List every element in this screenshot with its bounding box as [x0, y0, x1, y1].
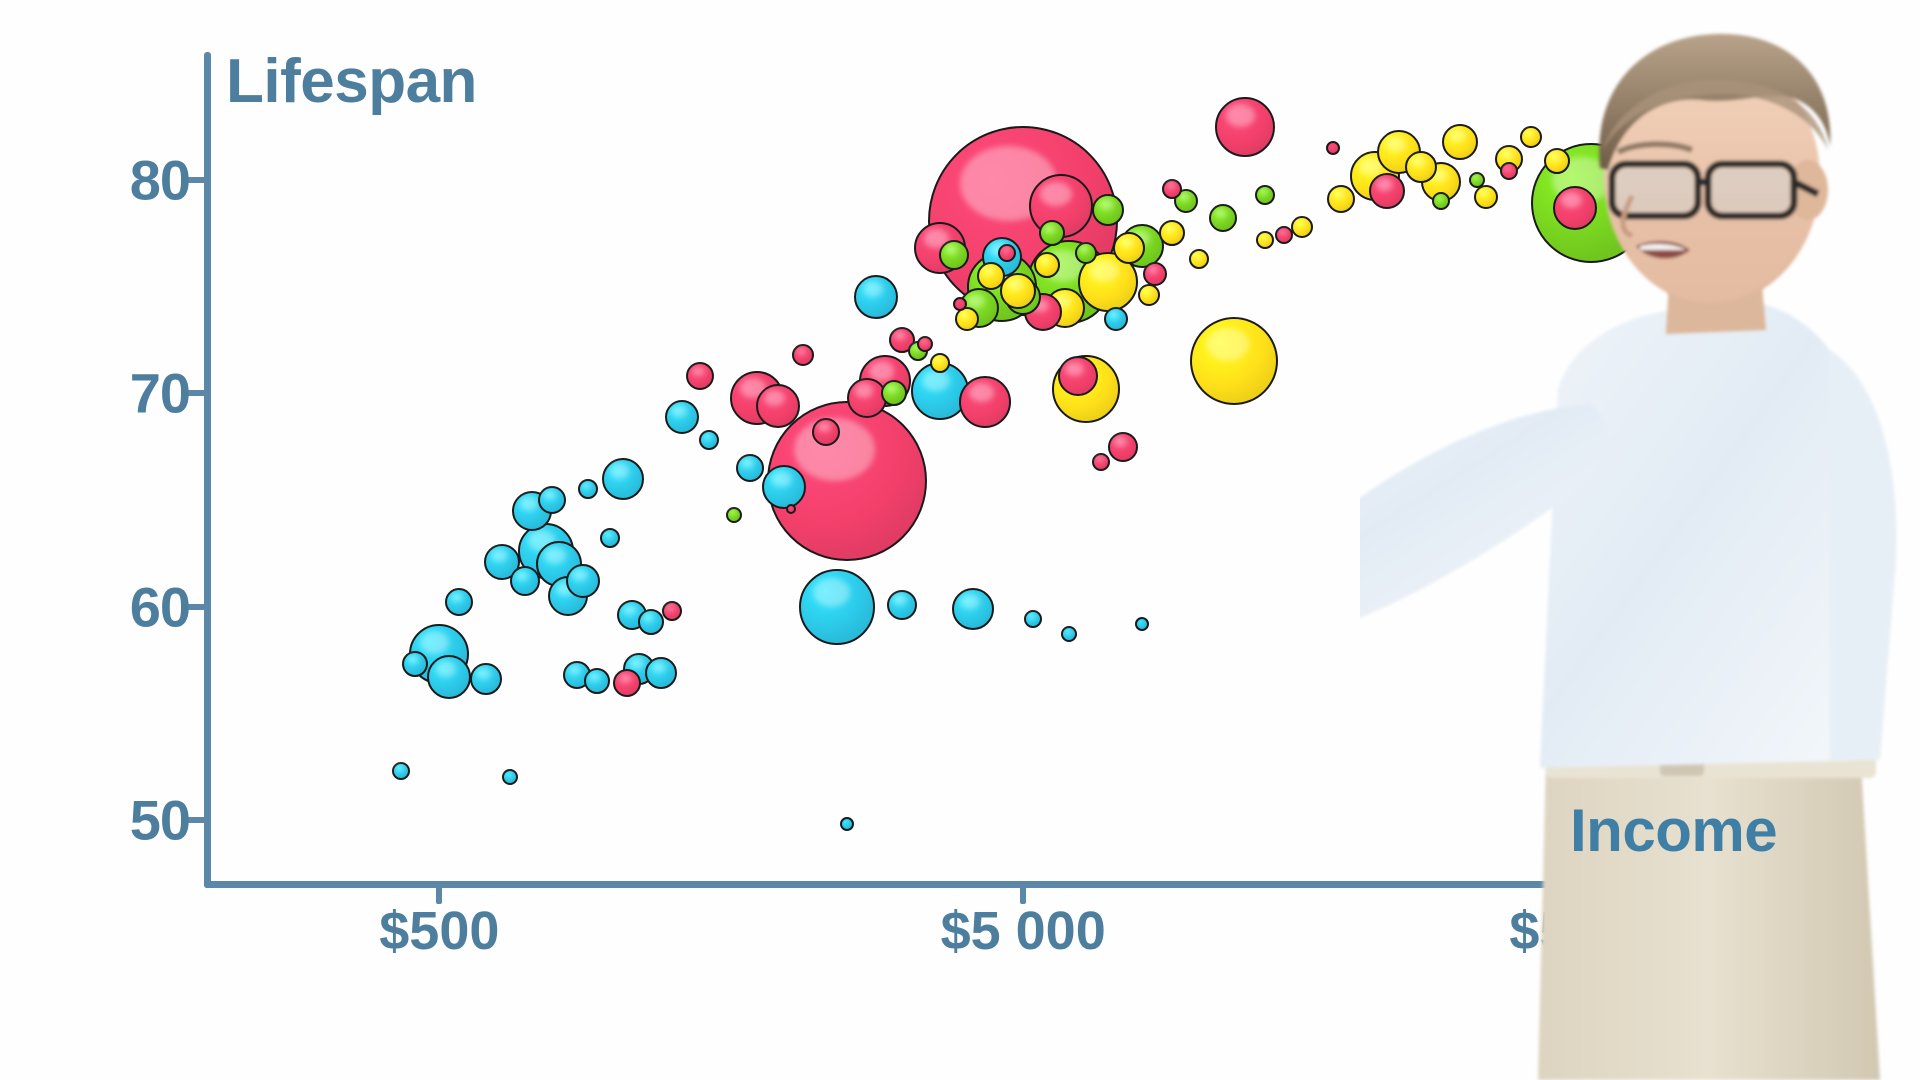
bubble-europe[interactable] — [1327, 185, 1355, 213]
bubble-europe[interactable] — [1520, 126, 1542, 148]
bubble-asia[interactable] — [998, 244, 1016, 262]
bubble-africa[interactable] — [665, 400, 699, 434]
y-tick-label: 70 — [70, 361, 190, 426]
bubble-asia[interactable] — [1162, 179, 1182, 199]
x-tick-label: $5 000 — [941, 900, 1106, 962]
bubble-asia[interactable] — [1500, 162, 1518, 180]
bubble-americas[interactable] — [726, 507, 742, 523]
bubble-asia[interactable] — [1108, 432, 1138, 462]
bubble-asia[interactable] — [792, 344, 814, 366]
bubble-europe[interactable] — [977, 262, 1005, 290]
bubble-africa[interactable] — [445, 588, 473, 616]
bubble-africa[interactable] — [427, 655, 471, 699]
bubble-asia[interactable] — [1058, 356, 1098, 396]
bubble-asia[interactable] — [812, 418, 840, 446]
bubble-africa[interactable] — [502, 769, 518, 785]
bubble-asia[interactable] — [1748, 149, 1764, 165]
bubble-americas[interactable] — [881, 380, 907, 406]
bubble-americas[interactable] — [1255, 185, 1275, 205]
bubble-europe[interactable] — [1442, 124, 1478, 160]
bubble-asia[interactable] — [959, 376, 1011, 428]
y-tick-label: 50 — [70, 788, 190, 853]
bubble-africa[interactable] — [1061, 626, 1077, 642]
bubble-africa[interactable] — [584, 668, 610, 694]
bubble-americas[interactable] — [939, 240, 969, 270]
bubble-asia[interactable] — [1143, 262, 1167, 286]
bubble-asia[interactable] — [613, 669, 641, 697]
bubble-asia[interactable] — [1092, 453, 1110, 471]
bubble-africa[interactable] — [510, 566, 540, 596]
y-axis-title: Lifespan — [226, 46, 477, 117]
bubble-asia[interactable] — [786, 504, 796, 514]
bubble-asia[interactable] — [917, 336, 933, 352]
bubble-americas[interactable] — [1075, 242, 1097, 264]
bubble-africa[interactable] — [602, 458, 644, 500]
bubble-africa[interactable] — [799, 569, 875, 645]
bubble-americas[interactable] — [1092, 194, 1124, 226]
bubble-africa[interactable] — [1024, 610, 1042, 628]
x-axis-line — [204, 881, 1829, 888]
bubble-africa[interactable] — [736, 454, 764, 482]
bubble-europe[interactable] — [1190, 317, 1278, 405]
bubble-asia[interactable] — [1654, 138, 1670, 154]
bubble-africa[interactable] — [1104, 307, 1128, 331]
bubble-europe[interactable] — [1544, 148, 1570, 174]
chart-canvas: 80706050 $500$5 000$50 000 Lifespan — [0, 0, 1920, 1080]
bubble-europe[interactable] — [1159, 220, 1185, 246]
bubble-africa[interactable] — [1135, 617, 1149, 631]
bubble-asia[interactable] — [1553, 186, 1597, 230]
bubble-africa[interactable] — [566, 564, 600, 598]
bubble-americas[interactable] — [1432, 192, 1450, 210]
bubble-africa[interactable] — [638, 609, 664, 635]
bubble-europe[interactable] — [1138, 284, 1160, 306]
bubble-americas[interactable] — [1209, 204, 1237, 232]
bubble-europe[interactable] — [1291, 216, 1313, 238]
bubble-africa[interactable] — [578, 479, 598, 499]
x-tick-label: $500 — [379, 900, 499, 962]
bubble-africa[interactable] — [470, 663, 502, 695]
bubble-africa[interactable] — [600, 528, 620, 548]
bubble-africa[interactable] — [538, 486, 566, 514]
bubble-europe[interactable] — [1405, 151, 1437, 183]
bubble-europe[interactable] — [1474, 185, 1498, 209]
bubble-asia[interactable] — [1369, 173, 1405, 209]
bubble-africa[interactable] — [645, 657, 677, 689]
x-axis-title: Income — [1570, 796, 1777, 865]
bubble-africa[interactable] — [699, 430, 719, 450]
bubble-asia[interactable] — [686, 362, 714, 390]
bubble-europe[interactable] — [1256, 231, 1274, 249]
bubble-africa[interactable] — [840, 817, 854, 831]
bubble-africa[interactable] — [392, 762, 410, 780]
bubble-africa[interactable] — [952, 588, 994, 630]
x-tick-label: $50 000 — [1509, 900, 1704, 962]
bubble-asia[interactable] — [756, 384, 800, 428]
bubble-africa[interactable] — [854, 275, 898, 319]
bubble-europe[interactable] — [1000, 273, 1036, 309]
bubble-asia[interactable] — [1215, 97, 1275, 157]
bubble-asia[interactable] — [953, 297, 967, 311]
y-tick-label: 80 — [70, 148, 190, 213]
bubble-asia[interactable] — [1275, 226, 1293, 244]
bubble-asia[interactable] — [1326, 141, 1340, 155]
y-tick-label: 60 — [70, 574, 190, 639]
bubble-africa[interactable] — [887, 590, 917, 620]
bubble-europe[interactable] — [1189, 249, 1209, 269]
bubble-asia[interactable] — [662, 601, 682, 621]
